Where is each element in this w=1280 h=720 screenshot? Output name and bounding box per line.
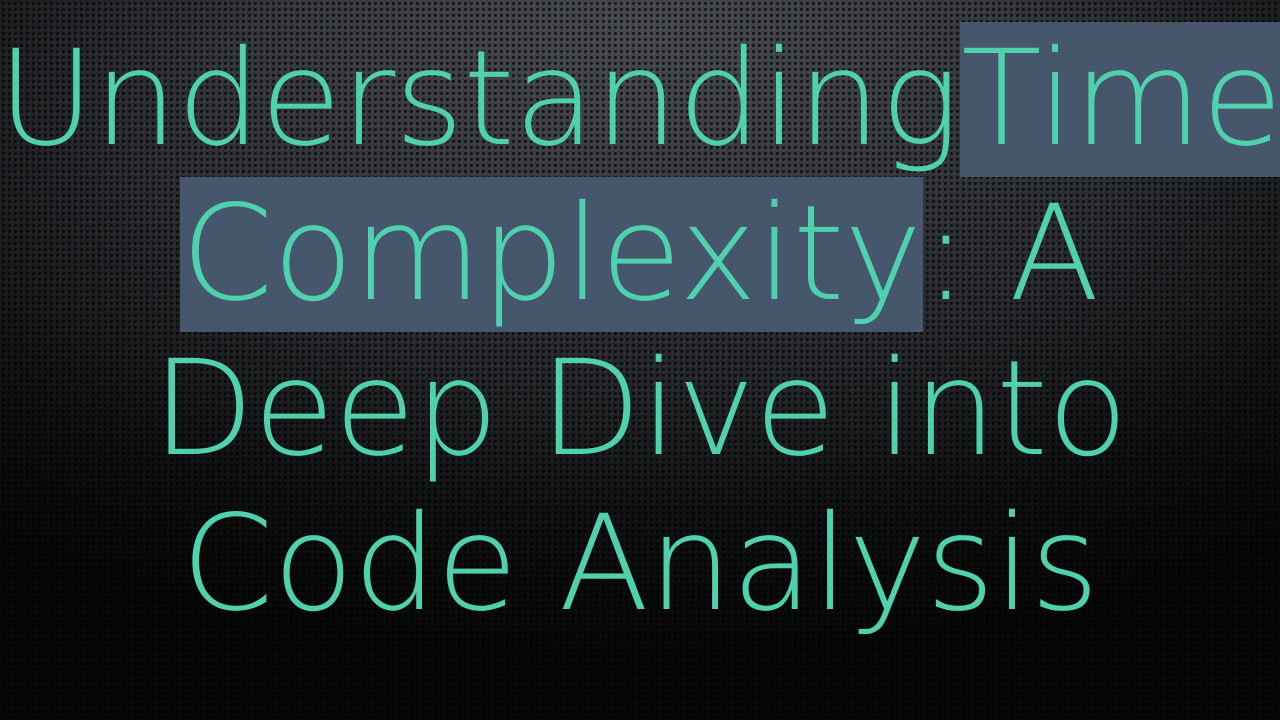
title-segment-plain: Code Analysis	[180, 487, 1099, 642]
title-line-2: Complexity: A	[180, 177, 1100, 332]
title-segment-plain: Understanding	[0, 22, 960, 177]
title-segment-plain: : A	[923, 177, 1100, 332]
title-card-canvas: Understanding Time Complexity: A Deep Di…	[0, 0, 1280, 720]
title-block: Understanding Time Complexity: A Deep Di…	[0, 0, 1280, 720]
title-line-3: Deep Dive into	[151, 332, 1128, 487]
title-line-1: Understanding Time	[0, 22, 1280, 177]
title-segment-plain: Deep Dive into	[151, 332, 1128, 487]
title-segment-highlighted: Complexity	[180, 177, 923, 332]
title-segment-highlighted: Time	[960, 22, 1280, 177]
title-line-4: Code Analysis	[180, 487, 1099, 642]
